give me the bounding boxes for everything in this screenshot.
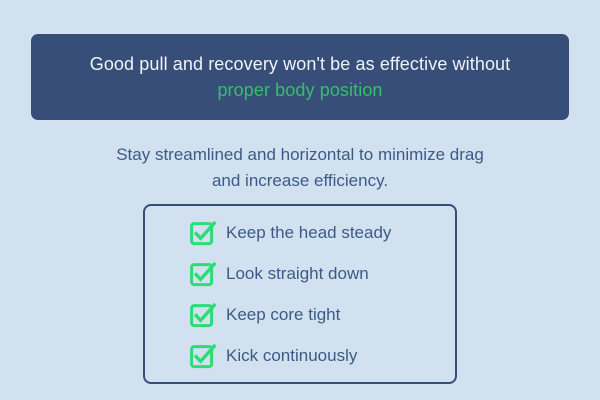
checked-checkbox-icon[interactable] [190,263,212,285]
list-item-label: Keep the head steady [226,223,391,243]
list-item[interactable]: Look straight down [190,253,455,294]
headline-line-1: Good pull and recovery won't be as effec… [90,51,511,77]
list-item-label: Look straight down [226,264,369,284]
subtitle: Stay streamlined and horizontal to minim… [0,142,600,194]
headline-banner: Good pull and recovery won't be as effec… [31,34,569,120]
checked-checkbox-icon[interactable] [190,222,212,244]
subtitle-line-1: Stay streamlined and horizontal to minim… [0,142,600,168]
list-item[interactable]: Kick continuously [190,335,455,376]
subtitle-line-2: and increase efficiency. [0,168,600,194]
list-item[interactable]: Keep core tight [190,294,455,335]
checked-checkbox-icon[interactable] [190,304,212,326]
list-item-label: Kick continuously [226,346,357,366]
list-item[interactable]: Keep the head steady [190,212,455,253]
list-item-label: Keep core tight [226,305,340,325]
checked-checkbox-icon[interactable] [190,345,212,367]
headline-accent-line: proper body position [217,77,382,103]
checklist-box: Keep the head steady Look straight down … [143,204,457,384]
